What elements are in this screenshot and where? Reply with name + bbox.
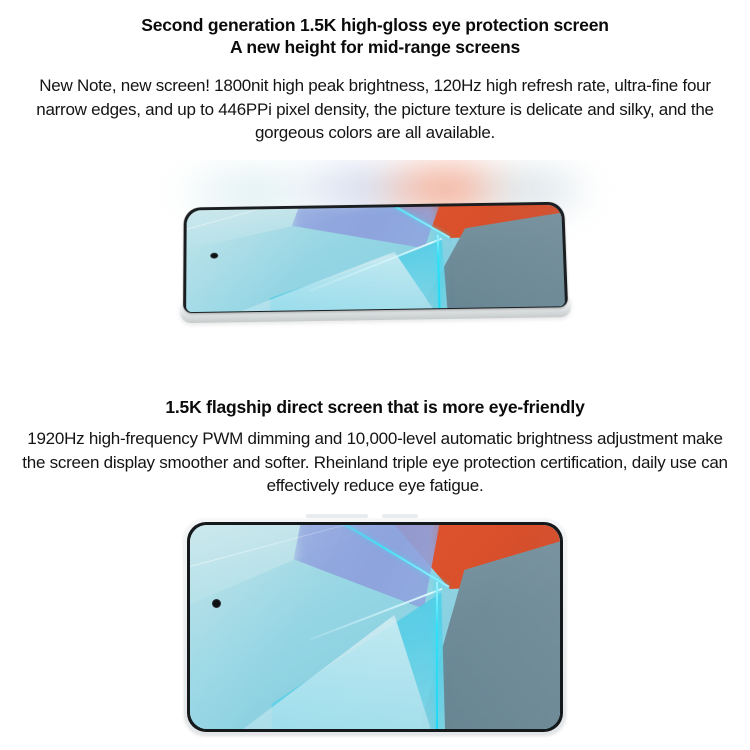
phone-front-bezel	[187, 522, 563, 732]
phone-front-device	[184, 519, 566, 735]
side-button-volume	[306, 514, 368, 518]
side-button-power	[382, 514, 418, 518]
section-1-heading-line-1: Second generation 1.5K high-gloss eye pr…	[0, 14, 750, 36]
wallpaper-prism	[186, 205, 565, 312]
phone-front-screen	[190, 525, 560, 729]
wallpaper-prism	[190, 525, 560, 729]
section-1-body-text: New Note, new screen! 1800nit high peak …	[28, 74, 722, 145]
phone-front-image	[0, 505, 750, 750]
phone-front-body	[184, 519, 566, 735]
section-1-heading: Second generation 1.5K high-gloss eye pr…	[0, 14, 750, 58]
phone-tilted-screen	[186, 205, 565, 312]
front-camera-icon	[211, 252, 219, 258]
product-detail-page: Second generation 1.5K high-gloss eye pr…	[0, 0, 750, 750]
phone-tilted-bezel	[183, 202, 568, 313]
section-2-body-text: 1920Hz high-frequency PWM dimming and 10…	[14, 427, 736, 498]
section-2-heading: 1.5K flagship direct screen that is more…	[0, 396, 750, 418]
phone-tilted-device	[183, 202, 569, 335]
phone-tilted-image	[0, 160, 750, 370]
section-2-heading-line-1: 1.5K flagship direct screen that is more…	[0, 396, 750, 418]
section-1-heading-line-2: A new height for mid-range screens	[0, 36, 750, 58]
wallpaper-edge-vertical	[436, 582, 438, 729]
